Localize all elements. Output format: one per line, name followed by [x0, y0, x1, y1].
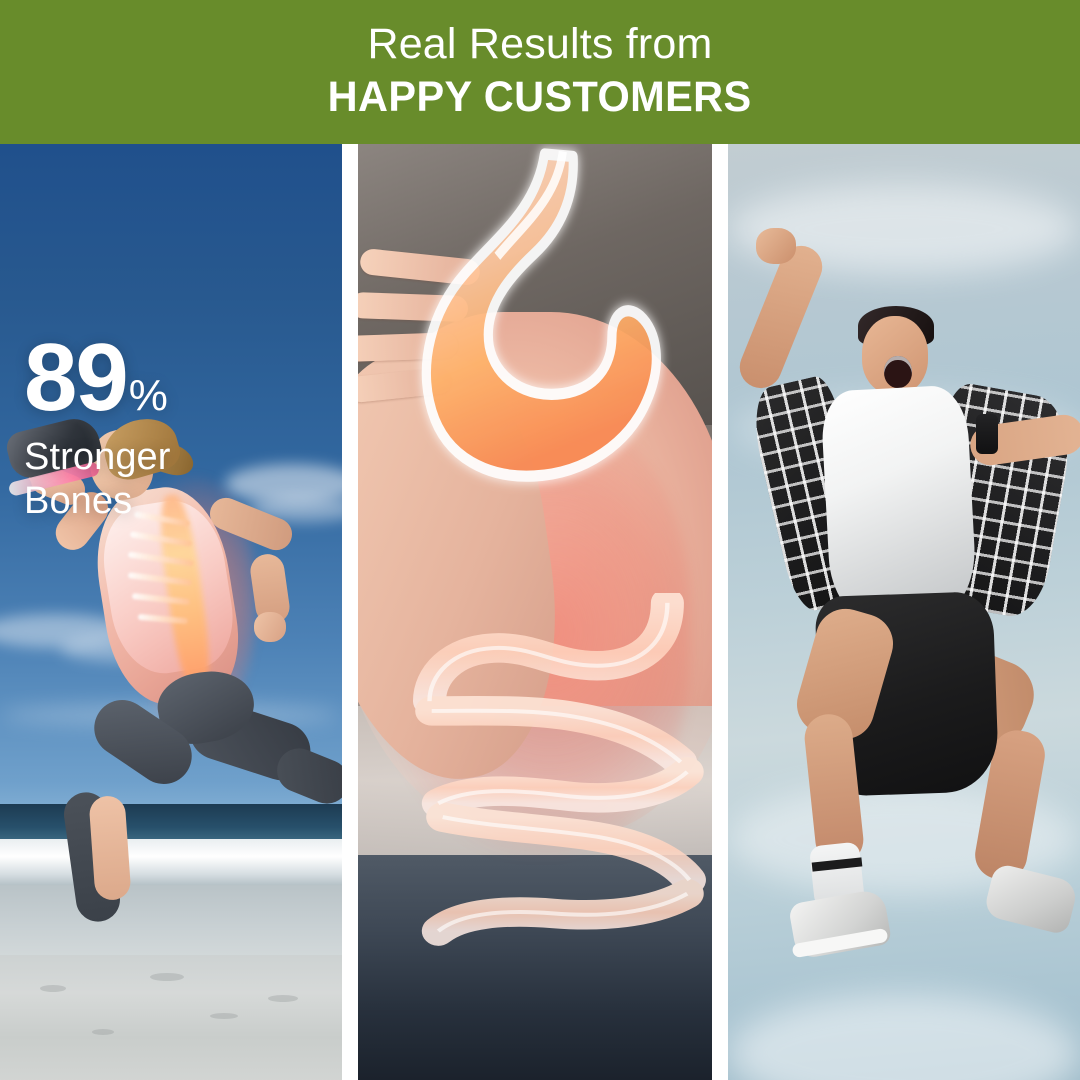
panel-stronger-bones[interactable]: 89 % Stronger Bones: [0, 144, 342, 1080]
wristwatch: [976, 414, 998, 454]
panel-divider: [342, 144, 358, 1080]
stat-label-line: Bones: [24, 480, 171, 524]
header-banner: Real Results from HAPPY CUSTOMERS: [0, 0, 1080, 144]
stat-number-group: 89 %: [24, 334, 171, 422]
panel-boosted-immunity[interactable]: 82 % Boosted Immunity & Stamina: [728, 144, 1080, 1080]
intestine-illustration: [358, 593, 712, 986]
stat-stronger-bones: 89 % Stronger Bones: [24, 334, 171, 524]
header-title-line2: HAPPY CUSTOMERS: [328, 73, 752, 121]
stat-value: 89: [24, 334, 127, 422]
stat-label-line: Stronger: [24, 436, 171, 480]
panel-divider: [712, 144, 728, 1080]
sneaker: [983, 862, 1080, 935]
digestion-image: [358, 144, 712, 1080]
header-title-line1: Real Results from: [367, 22, 712, 67]
panel-row: 89 % Stronger Bones: [0, 144, 1080, 1080]
panel-improved-digestion[interactable]: 95 % Improved Digestion: [358, 144, 712, 1080]
jumping-figure: [734, 244, 1076, 1064]
beach-runner-image: [0, 144, 342, 1080]
infographic-page: Real Results from HAPPY CUSTOMERS: [0, 0, 1080, 1080]
white-tshirt: [820, 384, 978, 621]
jumping-man-image: [728, 144, 1080, 1080]
percent-symbol: %: [129, 376, 168, 416]
stomach-illustration: [358, 144, 712, 668]
stat-label: Stronger Bones: [24, 436, 171, 523]
